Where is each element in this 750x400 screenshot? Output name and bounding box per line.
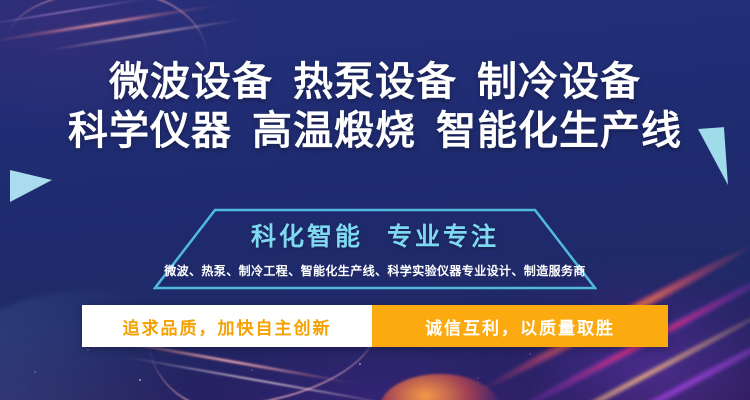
ribbon-title-right: 专业专注 [387,223,499,251]
ribbon-content: 科化智能专业专注 微波、热泵、制冷工程、智能化生产线、科学实验仪器专业设计、制造… [153,208,597,290]
ribbon-title: 科化智能专业专注 [251,217,499,253]
banner-headline: 微波设备热泵设备制冷设备 科学仪器高温煅烧智能化生产线 [0,58,750,156]
ribbon-subtitle: 微波、热泵、制冷工程、智能化生产线、科学实验仪器专业设计、制造服务商 [164,262,586,279]
headline-item-smartline: 智能化生产线 [436,109,682,153]
slogan-integrity: 诚信互利，以质量取胜 [372,305,668,347]
ribbon-title-left: 科化智能 [251,223,363,251]
headline-item-instruments: 科学仪器 [68,109,232,153]
headline-line-2: 科学仪器高温煅烧智能化生产线 [0,107,750,156]
light-orb-bottom-right-icon [380,374,500,400]
headline-item-heatpump: 热泵设备 [293,60,457,104]
triangle-left-icon [10,170,52,202]
light-curve-top-left-icon [7,0,212,60]
slogan-quality: 追求品质，加快自主创新 [82,305,372,347]
headline-item-refrigeration: 制冷设备 [477,60,641,104]
headline-line-1: 微波设备热泵设备制冷设备 [0,58,750,107]
ribbon-trapezoid: 科化智能专业专注 微波、热泵、制冷工程、智能化生产线、科学实验仪器专业设计、制造… [153,208,597,290]
headline-item-calcination: 高温煅烧 [252,109,416,153]
headline-item-microwave: 微波设备 [109,60,273,104]
promo-banner: 微波设备热泵设备制冷设备 科学仪器高温煅烧智能化生产线 科化智能专业专注 微波、… [0,0,750,400]
slogan-bar-group: 追求品质，加快自主创新 诚信互利，以质量取胜 [82,305,668,347]
